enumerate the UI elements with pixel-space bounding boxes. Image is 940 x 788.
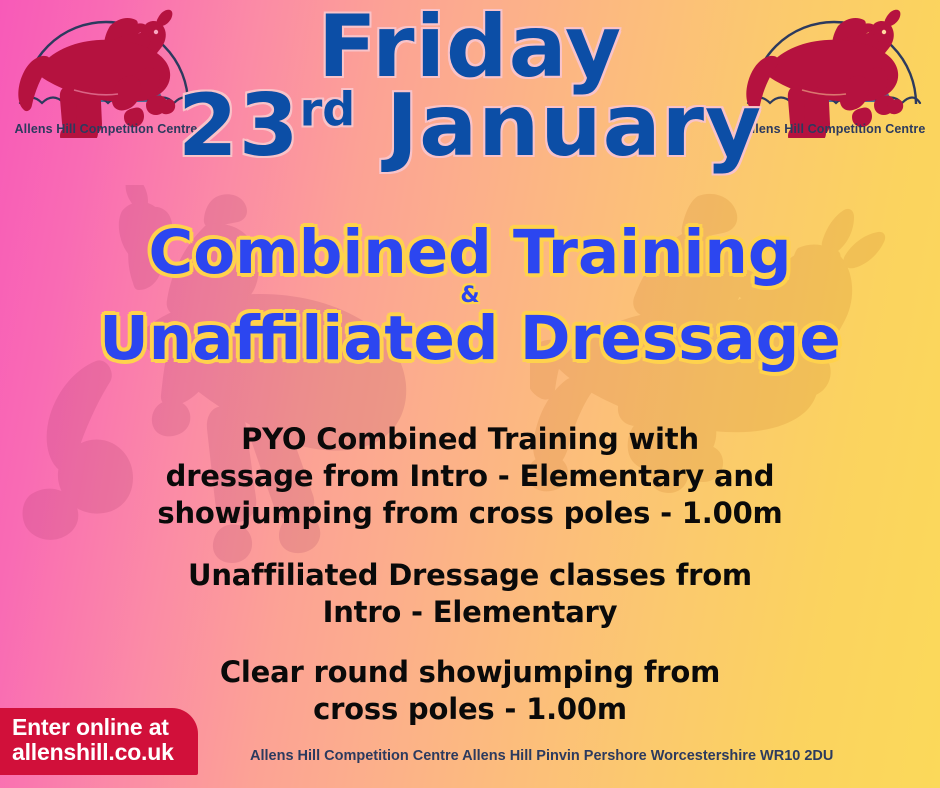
date-day-month: 23rd January	[0, 85, 940, 168]
event-title: Combined Training & Unaffiliated Dressag…	[0, 222, 940, 370]
date-day-number: 23	[178, 76, 300, 176]
event-poster: Allens Hill Competition Centre	[0, 0, 940, 788]
date-ordinal-suffix: rd	[300, 82, 356, 136]
description-line: dressage from Intro - Elementary and	[0, 458, 940, 495]
cta-website-url[interactable]: allenshill.co.uk	[12, 740, 174, 766]
description-line: Clear round showjumping from	[0, 654, 940, 691]
description-line: Unaffiliated Dressage classes from	[0, 557, 940, 594]
enter-online-badge[interactable]: Enter online at allenshill.co.uk	[0, 708, 198, 776]
title-combined-training: Combined Training	[0, 222, 940, 284]
date-month: January	[355, 76, 762, 176]
title-unaffiliated-dressage: Unaffiliated Dressage	[0, 308, 940, 370]
footer-address: Allens Hill Competition Centre Allens Hi…	[250, 748, 932, 764]
description-paragraph-2: Unaffiliated Dressage classes from Intro…	[0, 557, 940, 631]
description-line: showjumping from cross poles - 1.00m	[0, 495, 940, 532]
description-paragraph-1: PYO Combined Training with dressage from…	[0, 421, 940, 532]
description-line: PYO Combined Training with	[0, 421, 940, 458]
cta-line-1: Enter online at	[12, 715, 174, 741]
event-date-heading: Friday 23rd January	[0, 6, 940, 167]
description-line: Intro - Elementary	[0, 594, 940, 631]
